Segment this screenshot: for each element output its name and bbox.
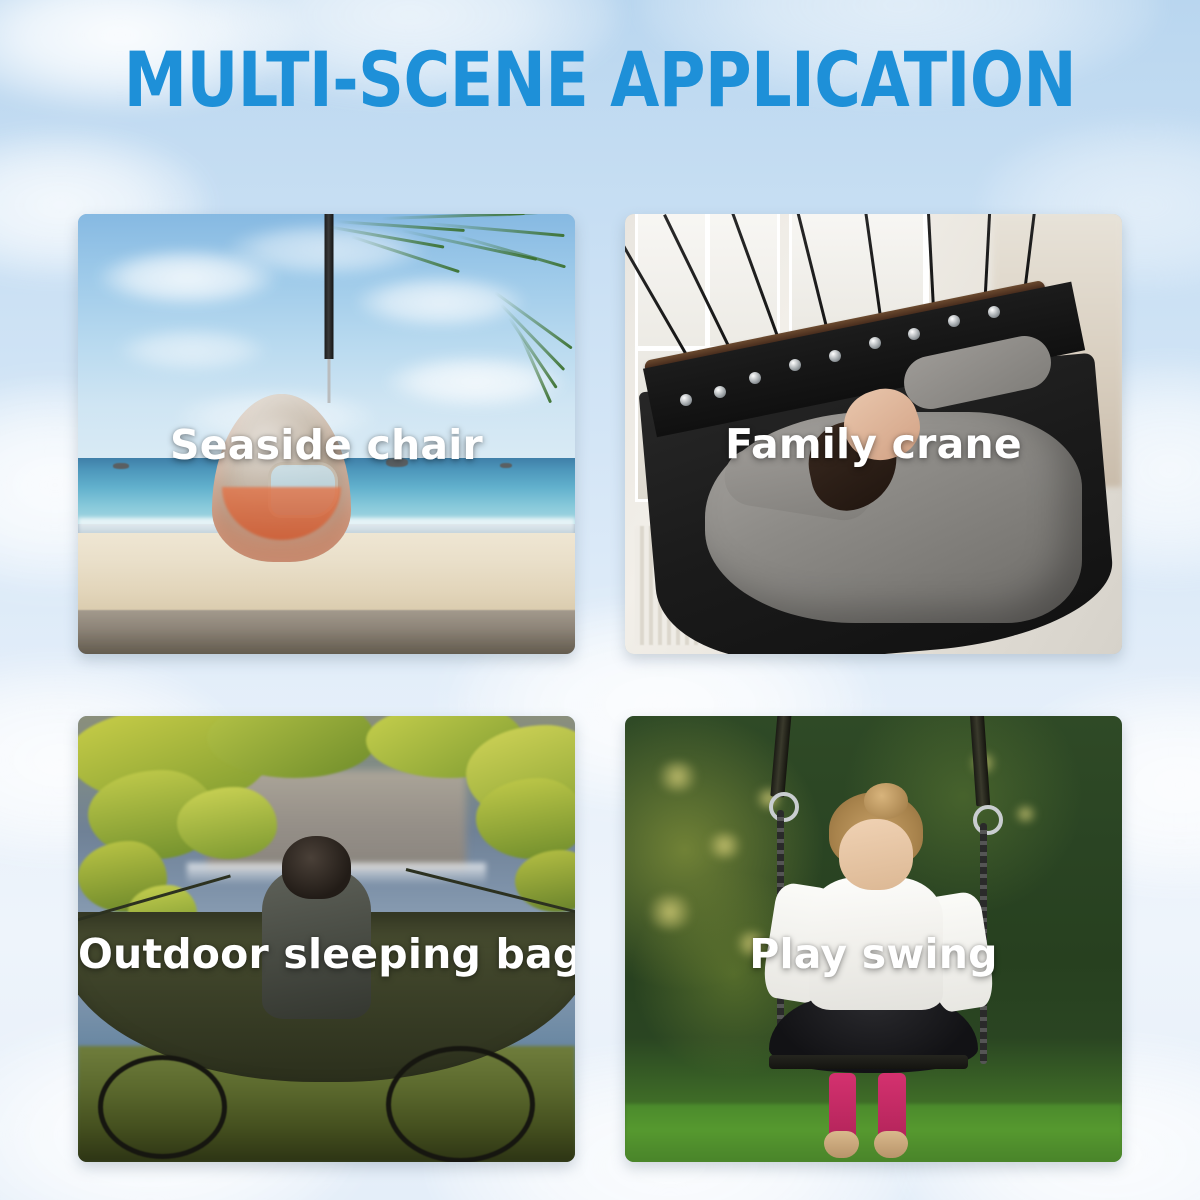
poster: MULTI-SCENE APPLICATION	[0, 0, 1200, 1200]
girl-shoe	[824, 1131, 859, 1158]
grommet	[869, 337, 881, 349]
girl-leg	[878, 1073, 905, 1140]
scene-card-family-crane[interactable]: Family crane	[625, 214, 1122, 654]
autumn-leaf	[177, 787, 276, 858]
bokeh-light	[655, 761, 700, 792]
grommet	[714, 386, 726, 398]
scene-card-outdoor-sleeping-bag[interactable]: Outdoor sleeping bag	[78, 716, 575, 1162]
lawn	[625, 1104, 1122, 1162]
bicycle-wheel	[98, 1055, 227, 1159]
grommet	[680, 394, 692, 406]
scene-card-seaside-chair[interactable]: Seaside chair	[78, 214, 575, 654]
swing-ring	[973, 805, 1003, 835]
scene-label-outdoor-sleeping-bag: Outdoor sleeping bag	[78, 930, 575, 978]
palm-frond-right	[495, 284, 575, 398]
girl-hair-bun	[864, 783, 909, 819]
scene-label-seaside-chair: Seaside chair	[78, 421, 575, 469]
palm-frond-top	[327, 214, 576, 284]
girl-leg	[829, 1073, 856, 1140]
scene-grid: Seaside chair	[78, 214, 1122, 1162]
bokeh-light	[705, 832, 745, 859]
page-title: MULTI-SCENE APPLICATION	[42, 42, 1158, 118]
scene-card-play-swing[interactable]: Play swing	[625, 716, 1122, 1162]
bicycle-wheel	[386, 1046, 535, 1162]
girl-shoe	[874, 1131, 909, 1158]
swing-ring	[769, 792, 799, 822]
swing-seat	[769, 1055, 968, 1069]
scene-label-family-crane: Family crane	[625, 420, 1122, 468]
bokeh-light	[1013, 805, 1038, 823]
bokeh-light	[645, 894, 695, 930]
girl-head	[839, 819, 914, 890]
scene-label-play-swing: Play swing	[625, 930, 1122, 978]
person-head	[282, 836, 352, 898]
driftwood-log	[78, 610, 575, 654]
chair-chain	[327, 359, 330, 403]
